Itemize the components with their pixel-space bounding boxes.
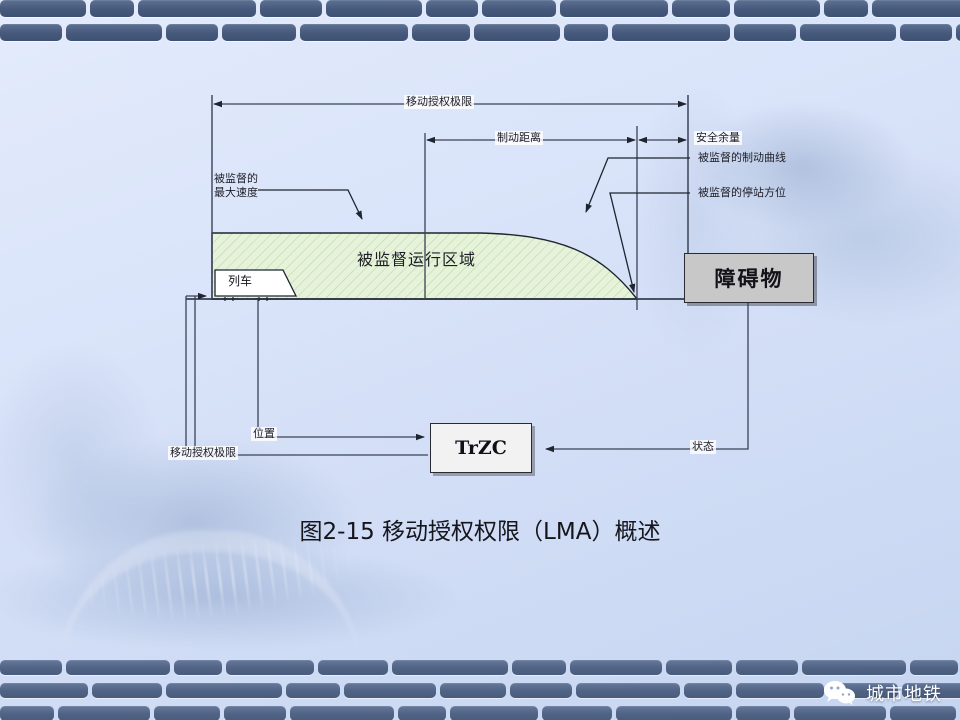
brick-border-bottom: [0, 660, 960, 720]
brick: [450, 706, 538, 720]
trzc-box[interactable]: TrZC: [430, 423, 532, 473]
brick: [92, 683, 162, 698]
brick: [0, 706, 54, 720]
brick: [440, 683, 506, 698]
brick: [576, 683, 680, 698]
brick: [0, 683, 88, 698]
brick: [166, 683, 282, 698]
brick: [174, 660, 222, 675]
brick: [510, 683, 572, 698]
max-speed-line2: 最大速度: [214, 186, 258, 199]
brick: [736, 683, 824, 698]
brick: [290, 706, 394, 720]
brick: [684, 683, 732, 698]
supervised-region-label: 被监督运行区域: [355, 250, 478, 270]
brick: [286, 683, 340, 698]
position-signal-label: 位置: [251, 427, 277, 441]
movement-authority-signal-label: 移动授权极限: [168, 446, 238, 460]
brick-row: [0, 706, 960, 720]
brick: [0, 660, 62, 675]
lma-dimension-label: 移动授权极限: [404, 95, 474, 109]
brick-row: [0, 683, 960, 701]
brick: [616, 706, 732, 720]
brick: [224, 706, 286, 720]
max-speed-callout: 被监督的 最大速度: [212, 172, 260, 200]
brick: [392, 660, 508, 675]
brick: [512, 660, 566, 675]
brick: [318, 660, 388, 675]
brick: [910, 660, 958, 675]
wechat-icon: [823, 680, 857, 706]
watermark-text: 城市地铁: [866, 680, 942, 706]
lma-diagram: [0, 0, 960, 720]
brick: [58, 706, 150, 720]
position-signal-line: [258, 300, 424, 437]
braking-distance-label: 制动距离: [495, 131, 543, 145]
brick: [542, 706, 612, 720]
brick: [344, 683, 436, 698]
brick: [666, 660, 732, 675]
brick: [154, 706, 220, 720]
brick: [794, 706, 886, 720]
brick: [890, 706, 956, 720]
brick: [802, 660, 906, 675]
slide-canvas: 移动授权极限 制动距离 安全余量 被监督的 最大速度 被监督的制动曲线 被监督的…: [0, 0, 960, 720]
obstacle-box[interactable]: 障碍物: [684, 253, 814, 303]
train-label: 列车: [228, 272, 252, 289]
brick: [736, 660, 798, 675]
status-signal-label: 状态: [690, 440, 716, 454]
brick: [66, 660, 170, 675]
brick-row: [0, 660, 960, 678]
stop-position-leader: [610, 193, 690, 292]
braking-curve-leader: [586, 158, 690, 212]
max-speed-line1: 被监督的: [214, 172, 258, 185]
brick: [570, 660, 662, 675]
safety-margin-label: 安全余量: [694, 131, 742, 145]
stop-position-callout: 被监督的停站方位: [696, 186, 788, 200]
brick: [226, 660, 314, 675]
braking-curve-callout: 被监督的制动曲线: [696, 151, 788, 165]
brick: [736, 706, 790, 720]
figure-caption: 图2-15 移动授权权限（LMA）概述: [0, 512, 960, 546]
brick: [398, 706, 446, 720]
status-signal-line: [546, 301, 748, 449]
max-speed-leader: [258, 190, 362, 219]
watermark: 城市地铁: [823, 680, 942, 706]
movement-authority-signal-line: [195, 296, 428, 455]
